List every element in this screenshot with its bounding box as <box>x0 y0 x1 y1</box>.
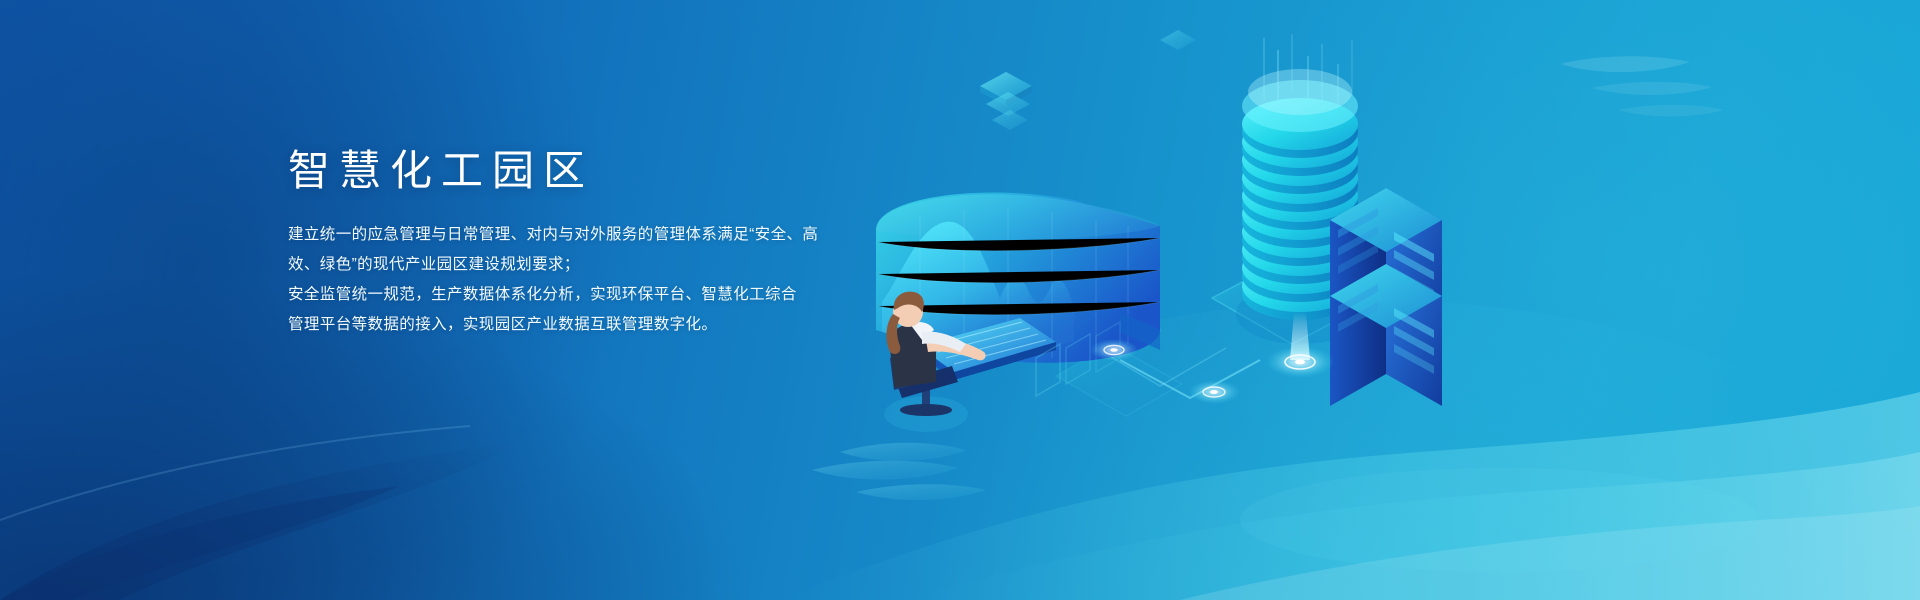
hero-banner: 智慧化工园区 建立统一的应急管理与日常管理、对内与对外服务的管理体系满足“安全、… <box>0 0 1920 600</box>
isometric-smart-park-illustration <box>860 30 1420 450</box>
illustration-svg <box>860 30 1420 450</box>
cloud-shape-5 <box>1592 82 1712 95</box>
wave-shape-left-2 <box>0 486 400 600</box>
cloud-shape-6 <box>1618 105 1724 117</box>
wave-shape-2 <box>900 452 1920 600</box>
description-line-2: 效、绿色”的现代产业园区建设规划要求； <box>288 250 928 280</box>
hero-content: 智慧化工园区 建立统一的应急管理与日常管理、对内与对外服务的管理体系满足“安全、… <box>288 148 928 340</box>
cloud-shape-4 <box>1560 56 1690 72</box>
description-line-3: 安全监管统一规范，生产数据体系化分析，实现环保平台、智慧化工综合 <box>288 280 928 310</box>
description-line-1: 建立统一的应急管理与日常管理、对内与对外服务的管理体系满足“安全、高 <box>288 220 928 250</box>
wave-shape-3 <box>1180 506 1920 600</box>
wave-line-left <box>0 426 470 520</box>
glow-ellipse-bottom <box>1240 468 1760 572</box>
wave-shape-left-1 <box>0 442 520 600</box>
page-title: 智慧化工园区 <box>288 148 928 194</box>
tower-cap <box>1248 69 1352 115</box>
cloud-shape-3 <box>856 484 986 500</box>
floating-isometric-shards <box>980 30 1196 130</box>
cloud-shape-2 <box>812 461 958 480</box>
hero-description: 建立统一的应急管理与日常管理、对内与对外服务的管理体系满足“安全、高 效、绿色”… <box>288 220 928 340</box>
description-line-4: 管理平台等数据的接入，实现园区产业数据互联管理数字化。 <box>288 310 928 340</box>
